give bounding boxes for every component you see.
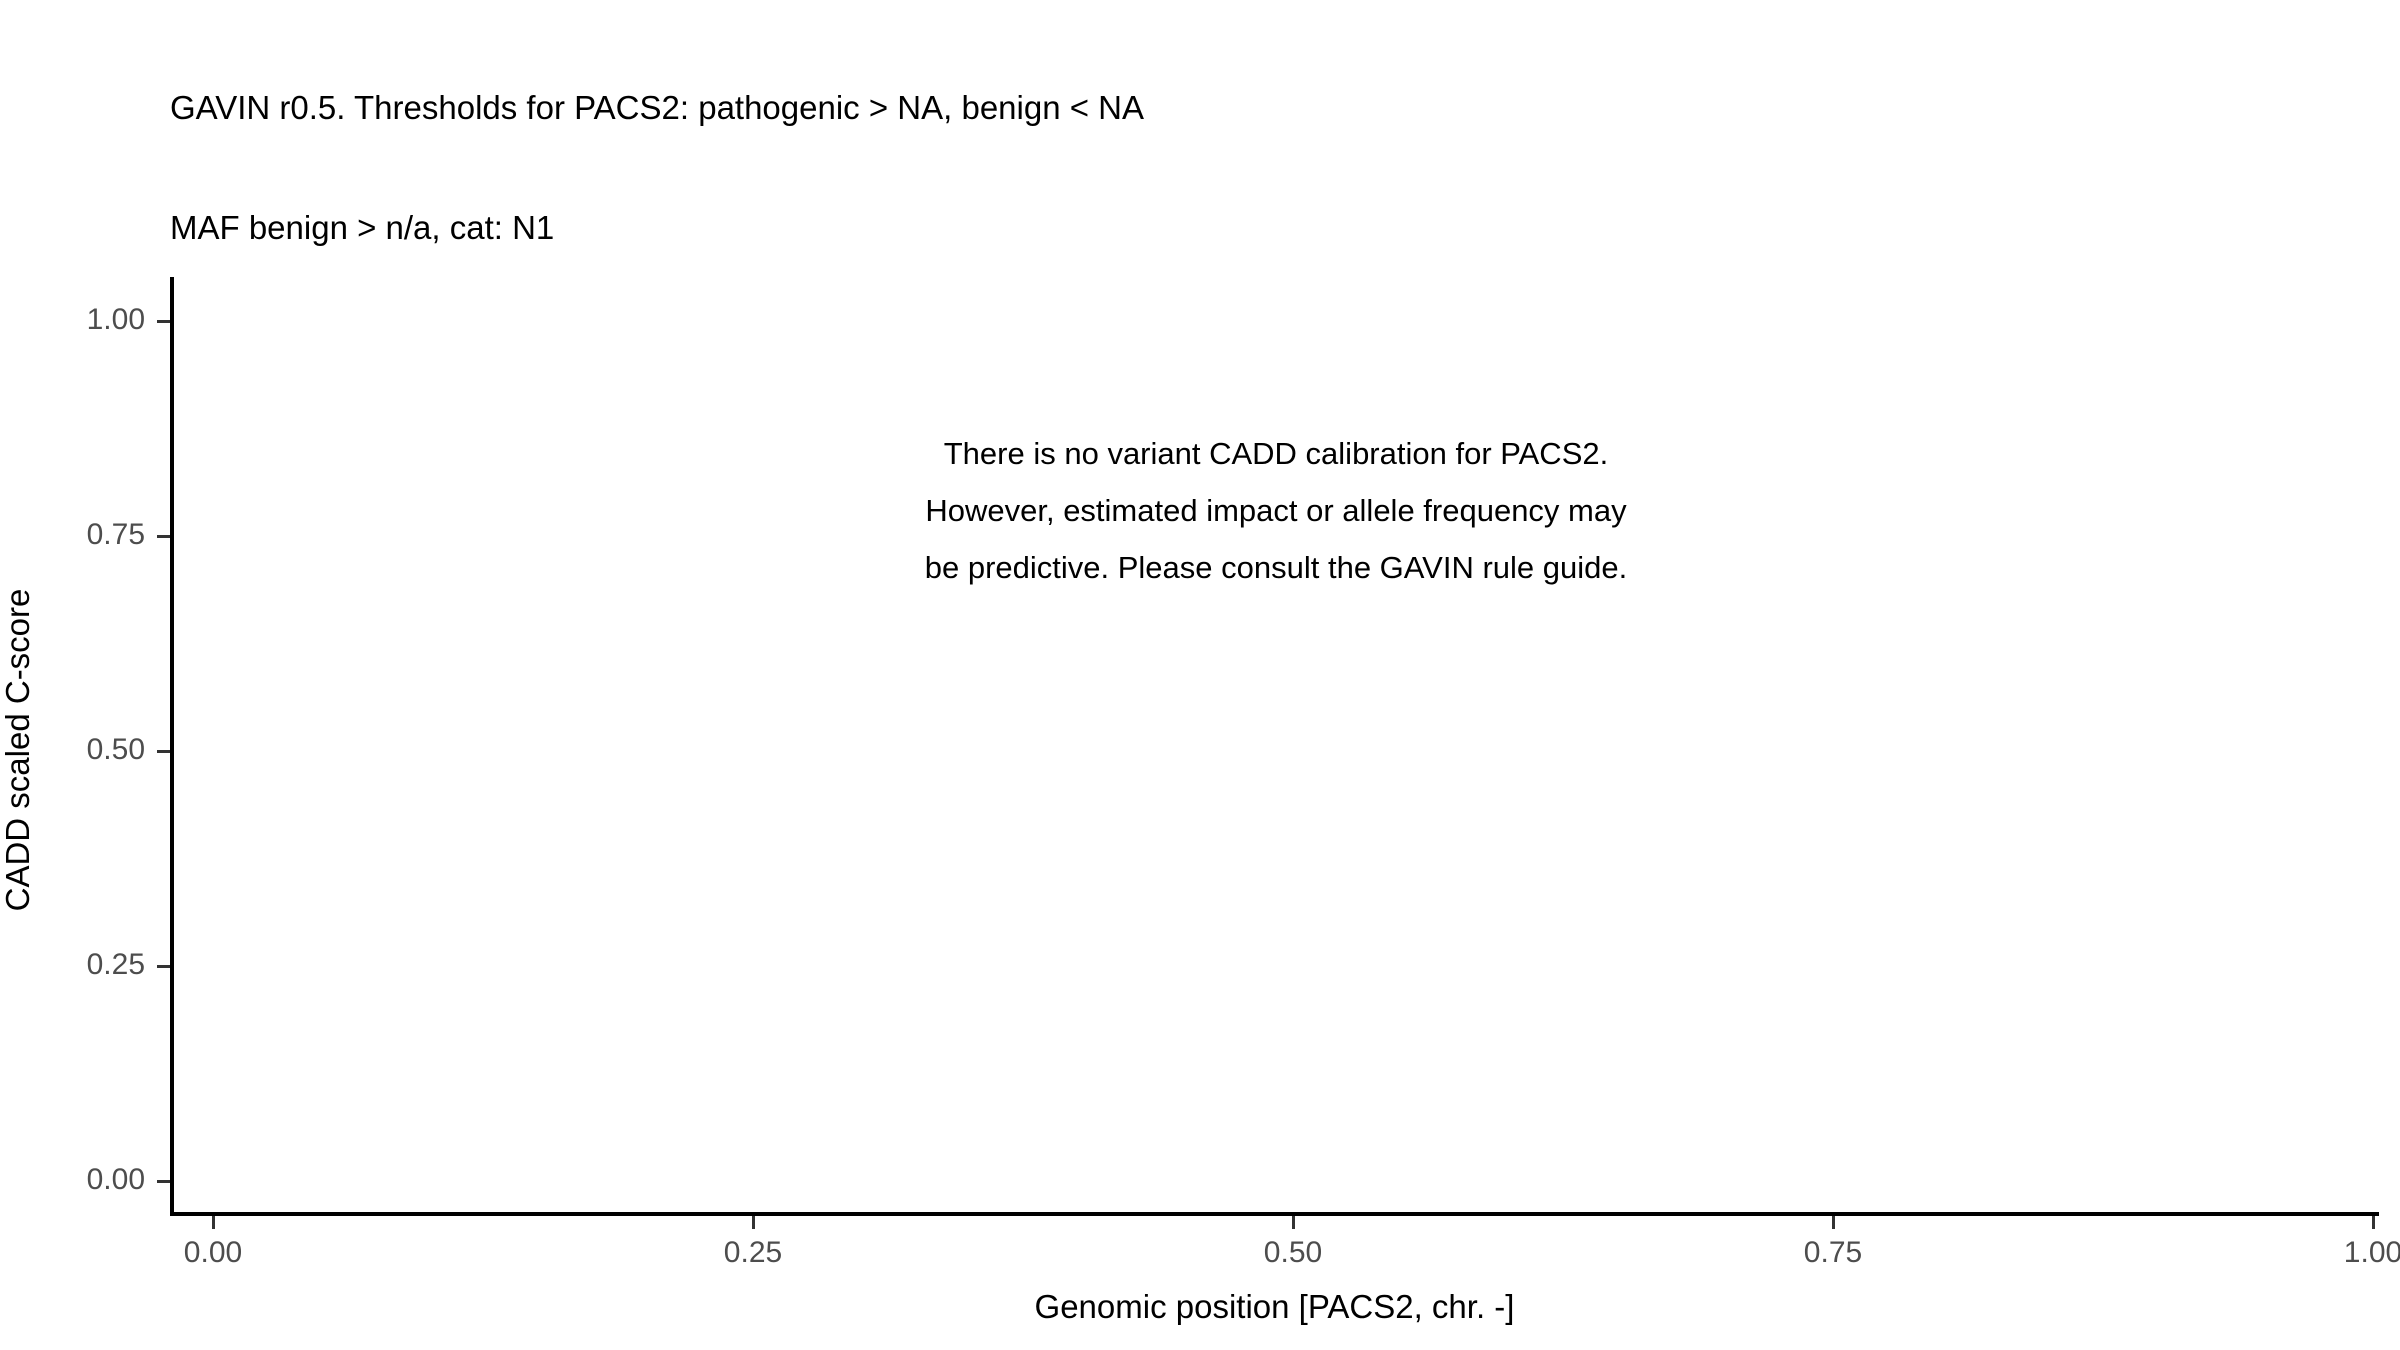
y-tick-label-0.25-wrap: 0.25 (25, 950, 145, 980)
x-tick-label-0.25-wrap: 0.25 (673, 1236, 833, 1270)
y-tick-label-0.00-wrap: 0.00 (25, 1165, 145, 1195)
x-axis-line (170, 1212, 2379, 1216)
no-calibration-annotation: There is no variant CADD calibration for… (173, 425, 2379, 596)
x-tick-label-0.50: 0.50 (1213, 1236, 1373, 1270)
x-tick-label-0.75: 0.75 (1753, 1236, 1913, 1270)
x-tick-label-0.75-wrap: 0.75 (1753, 1236, 1913, 1270)
y-tick-label-0.75: 0.75 (45, 520, 145, 550)
chart-title-line-2: MAF benign > n/a, cat: N1 (170, 208, 2270, 248)
chart-title-line-1: GAVIN r0.5. Thresholds for PACS2: pathog… (170, 88, 2270, 128)
y-tick-label-0.25: 0.25 (45, 950, 145, 980)
y-tick-label-0.50-wrap: 0.50 (25, 735, 145, 765)
x-tick-label-0.00-wrap: 0.00 (133, 1236, 293, 1270)
x-tick-mark-0.75 (1832, 1216, 1835, 1229)
x-tick-mark-0.50 (1292, 1216, 1295, 1229)
y-tick-mark-0.50 (157, 750, 170, 753)
x-tick-label-1.00-wrap: 1.00 (2293, 1236, 2400, 1270)
x-tick-label-0.00: 0.00 (133, 1236, 293, 1270)
y-tick-label-0.75-wrap: 0.75 (25, 520, 145, 550)
y-tick-mark-0.00 (157, 1180, 170, 1183)
x-tick-mark-1.00 (2372, 1216, 2375, 1229)
y-tick-label-1.00: 1.00 (45, 305, 145, 335)
y-tick-mark-0.25 (157, 965, 170, 968)
annotation-line-1: There is no variant CADD calibration for… (173, 425, 2379, 482)
y-axis-line (170, 277, 174, 1216)
x-axis-title: Genomic position [PACS2, chr. -] (170, 1288, 2379, 1326)
y-tick-label-1.00-wrap: 1.00 (25, 305, 145, 335)
y-tick-label-0.50: 0.50 (45, 735, 145, 765)
annotation-line-2: However, estimated impact or allele freq… (173, 482, 2379, 539)
y-tick-mark-1.00 (157, 320, 170, 323)
y-axis-title: CADD scaled C-score (0, 280, 37, 1220)
x-tick-label-0.50-wrap: 0.50 (1213, 1236, 1373, 1270)
y-tick-label-0.00: 0.00 (45, 1165, 145, 1195)
x-tick-label-0.25: 0.25 (673, 1236, 833, 1270)
y-tick-mark-0.75 (157, 535, 170, 538)
x-tick-mark-0.25 (752, 1216, 755, 1229)
plot-panel (173, 277, 2379, 1214)
annotation-line-3: be predictive. Please consult the GAVIN … (173, 539, 2379, 596)
x-tick-label-1.00: 1.00 (2293, 1236, 2400, 1270)
x-tick-mark-0.00 (212, 1216, 215, 1229)
chart-canvas: GAVIN r0.5. Thresholds for PACS2: pathog… (0, 0, 2400, 1350)
